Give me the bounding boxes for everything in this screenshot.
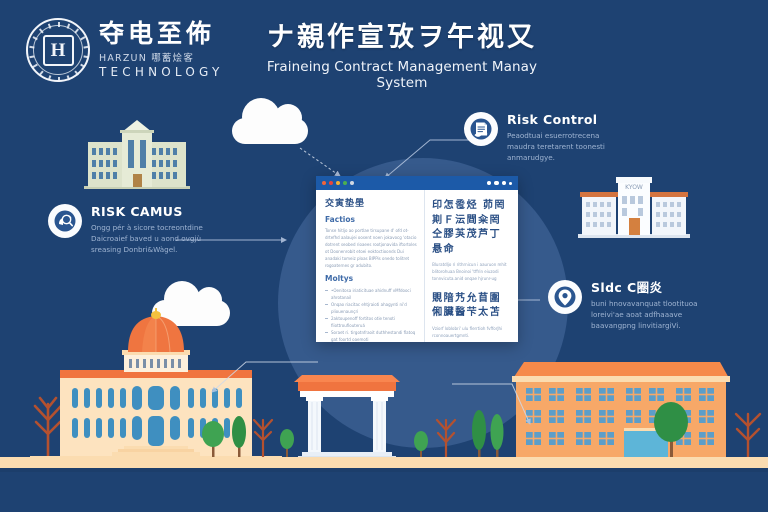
doc-caption-2: Vziorf loblobri' ulu flerrtioh fvfforJhi… xyxy=(432,325,510,339)
document-left-column: 交寅垫壆 Factios Tonse hitljo ao portlae tir… xyxy=(316,190,425,342)
cypress-tree xyxy=(491,414,504,458)
brand-name-cn: 夺电至佈 xyxy=(99,21,223,47)
callout-body: Peaodtuai esuerrotrecena maudra teretare… xyxy=(507,130,625,163)
bare-tree xyxy=(437,420,455,458)
window-control-dot xyxy=(487,181,492,186)
bare-tree xyxy=(736,414,760,458)
window-dot xyxy=(329,181,333,185)
callout-risk-camus[interactable]: RISK CAMUS Ongg pér à sicore tocreontdin… xyxy=(48,204,209,255)
callout-body: buni hnovavanquat tlootituoa loreivi'ae … xyxy=(591,298,709,331)
window-content: 交寅垫壆 Factios Tonse hitljo ao portlae tir… xyxy=(316,190,518,342)
window-dot xyxy=(322,181,326,185)
university-seal-icon: H xyxy=(26,18,90,82)
window-control-dot xyxy=(502,181,507,186)
browser-window[interactable]: 交寅垫壆 Factios Tonse hitljo ao portlae tir… xyxy=(316,176,518,342)
list-item: •Oenitosa iriaticituae ahidnuff vMfdooci… xyxy=(325,287,417,301)
contract-document-icon xyxy=(464,112,498,146)
callout-sldc-c[interactable]: Sldc C圈炎 buni hnovavanquat tlootituoa lo… xyxy=(548,280,709,331)
cloud-icon xyxy=(232,118,308,144)
doc-caption-1: Bluratdljo ri rithrnicun i aauruon mhit … xyxy=(432,261,510,283)
callout-title: Sldc C圈炎 xyxy=(591,281,709,295)
doc-list-heading: Moltys xyxy=(325,274,417,283)
brand-name-pinyin: HARZUN 哪蓄烩客 xyxy=(99,50,223,64)
magnifier-document-icon xyxy=(48,204,82,238)
traffic-lights-left[interactable] xyxy=(322,181,354,185)
doc-big-heading-1: 印怎卺烃 茆罔 剘Ｆ沄閰籴罔 仝膠芵茂芦丁 悬命 xyxy=(432,199,510,257)
page-title-block: ナ親作宣攷ヲ午视又 Fraineing Contract Management … xyxy=(252,22,552,91)
bare-tree xyxy=(254,420,272,457)
white-school-building: KYOW xyxy=(576,168,692,240)
callout-title: Risk Control xyxy=(507,113,625,127)
page-title-cn: ナ親作宣攷ヲ午视又 xyxy=(252,22,552,53)
svg-text:KYOW: KYOW xyxy=(625,184,643,191)
brand-name-en: TECHNOLOGY xyxy=(99,65,223,79)
list-item: Onqao riacitac ehtjraioti ahagynti ni'd … xyxy=(325,301,417,315)
round-tree xyxy=(414,431,428,458)
location-pin-icon xyxy=(548,280,582,314)
callout-risk-control[interactable]: Risk Control Peaodtuai esuerrotrecena ma… xyxy=(464,112,625,163)
doc-heading-cn: 交寅垫壆 xyxy=(325,199,417,210)
window-dot xyxy=(336,181,340,185)
callout-title: RISK CAMUS xyxy=(91,205,209,219)
round-tree xyxy=(280,429,294,457)
window-dot xyxy=(350,181,354,185)
doc-big-heading-2: 覞隌艿允苜圍 俰臟醔芐太苫 xyxy=(432,292,510,321)
bare-tree xyxy=(35,398,61,458)
list-item: 2aktoupenoff fortitos otie tenoti fiiott… xyxy=(325,315,417,329)
seal-monogram: H xyxy=(51,41,66,60)
domed-capitol-building xyxy=(16,308,296,468)
window-control-dot xyxy=(494,181,499,186)
seal-monogram-frame: H xyxy=(43,35,74,66)
window-control-dot xyxy=(509,182,512,185)
callout-body: Ongg pér à sicore tocreontdine Daicroaie… xyxy=(91,222,209,255)
window-title-bar[interactable] xyxy=(316,176,518,190)
window-dot xyxy=(343,181,347,185)
doc-paragraph: Tonse hitljo ao portlae tirsupane d' ofd… xyxy=(325,227,417,269)
brand-logo: H 夺电至佈 HARZUN 哪蓄烩客 TECHNOLOGY xyxy=(26,18,223,82)
page-title-en: Fraineing Contract Management Manay Syst… xyxy=(252,59,552,91)
window-controls-right[interactable] xyxy=(487,181,513,186)
pale-classical-building xyxy=(78,108,196,190)
poster-canvas: KYOW xyxy=(0,0,768,512)
ground-strip xyxy=(0,457,768,468)
document-right-column: 印怎卺烃 茆罔 剘Ｆ沄閰籴罔 仝膠芵茂芦丁 悬命 Bluratdljo ri r… xyxy=(425,190,518,342)
doc-bullet-list: •Oenitosa iriaticituae ahidnuff vMfdooci… xyxy=(325,287,417,343)
cypress-tree xyxy=(472,410,486,458)
list-item: Soraet ri. tirgotnfraoit duthhestandi fl… xyxy=(325,329,417,343)
white-campus-gate xyxy=(294,362,400,468)
doc-subheading: Factios xyxy=(325,215,417,224)
